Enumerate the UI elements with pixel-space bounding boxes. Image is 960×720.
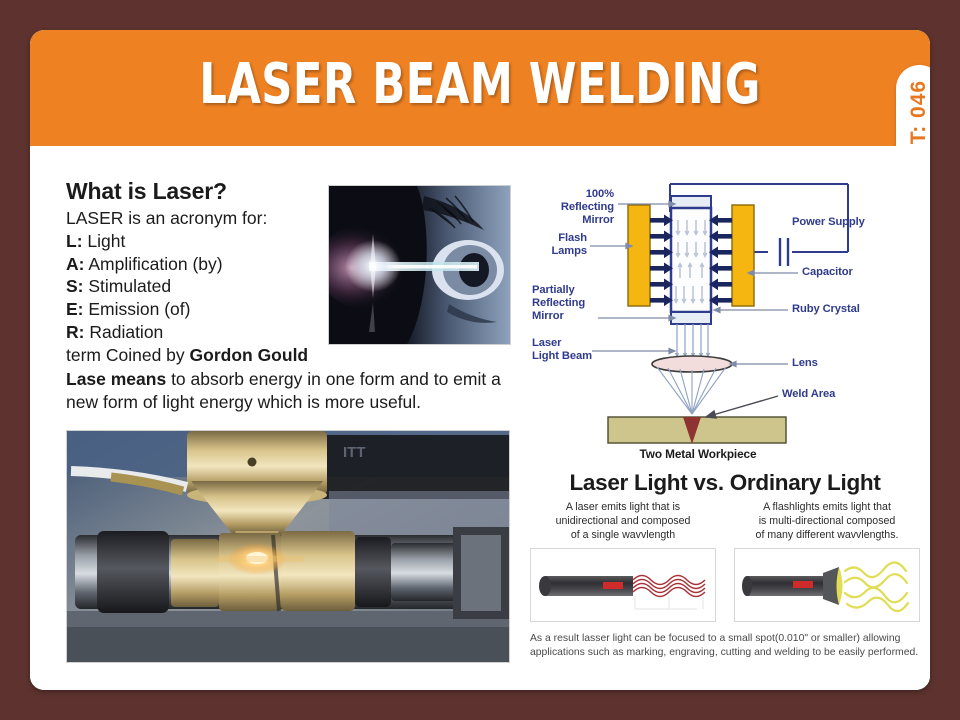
acronym-letter-a: A: <box>66 254 84 274</box>
acronym-letter-r: R: <box>66 322 84 342</box>
left-column: What is Laser? LASER is an acronym for: … <box>66 178 518 414</box>
flashlight-caption-line1: A flashlights emits light that <box>763 501 891 513</box>
laser-caption-line3: of a single wavvlength <box>571 529 675 541</box>
weld-photo-graphic: ITT <box>67 431 509 662</box>
label-100-reflecting-mirror: 100% Reflecting Mirror <box>532 188 614 228</box>
label-laser-light-beam: Laser Light Beam <box>532 337 602 363</box>
comparison-footnote: As a result lasser light can be focused … <box>530 632 920 660</box>
footnote-line1: As a result lasser light can be focused … <box>530 633 900 644</box>
acronym-word-a: Amplification (by) <box>88 254 222 274</box>
laser-caption: A laser emits light that is unidirection… <box>530 501 716 542</box>
label-partial-line1: Partially <box>532 284 575 296</box>
label-lens: Lens <box>792 357 818 370</box>
acronym-letter-e: E: <box>66 299 84 319</box>
label-partial-line2: Reflecting <box>532 297 585 309</box>
label-partially-reflecting-mirror: Partially Reflecting Mirror <box>532 284 598 324</box>
laser-caption-line2: unidirectional and composed <box>556 515 691 527</box>
acronym-word-s: Stimulated <box>88 276 171 296</box>
coined-by-line: term Coined by Gordon Gould <box>66 344 518 367</box>
acronym-letter-s: S: <box>66 276 84 296</box>
label-mirror100-line1: 100% <box>586 188 614 200</box>
flashlight-illustration <box>734 548 920 622</box>
svg-text:ITT: ITT <box>343 444 366 461</box>
eye-photo-graphic <box>329 186 510 344</box>
flashlight-caption-line3: of many different wavvlengths. <box>756 529 899 541</box>
footnote-line2: applications such as marking, engraving,… <box>530 647 918 658</box>
lase-definition-bold: Lase means <box>66 369 166 389</box>
slide-header: LASER BEAM WELDING <box>30 30 930 146</box>
label-mirror100-line2: Reflecting <box>561 201 614 213</box>
laser-pointer-graphic <box>531 549 715 621</box>
label-mirror100-line3: Mirror <box>582 214 614 226</box>
flashlight-caption-line2: is multi-directional composed <box>759 515 896 527</box>
flashlight-graphic <box>735 549 919 621</box>
page-title: LASER BEAM WELDING <box>93 52 867 117</box>
slide-body: What is Laser? LASER is an acronym for: … <box>30 146 930 690</box>
comparison-heading: Laser Light vs. Ordinary Light <box>530 470 920 496</box>
label-capacitor: Capacitor <box>802 266 853 279</box>
right-column: 100% Reflecting Mirror Flash Lamps Parti… <box>530 174 920 660</box>
acronym-word-e: Emission (of) <box>88 299 190 319</box>
eye-with-laser-beam-photo <box>328 185 511 345</box>
laser-caption-line1: A laser emits light that is <box>566 501 680 513</box>
comparison-section: Laser Light vs. Ordinary Light A laser e… <box>530 470 920 660</box>
coined-by-prefix: term Coined by <box>66 345 190 365</box>
flashlight-caption: A flashlights emits light that is multi-… <box>734 501 920 542</box>
label-ruby-crystal: Ruby Crystal <box>792 303 860 316</box>
label-beam-line2: Light Beam <box>532 350 592 362</box>
laser-pointer-illustration <box>530 548 716 622</box>
slide-root: LASER BEAM WELDING FT: 046 <box>0 0 960 720</box>
acronym-letter-l: L: <box>66 231 83 251</box>
label-flash-lamps: Flash Lamps <box>532 232 587 258</box>
label-weld-area: Weld Area <box>782 388 835 401</box>
lase-definition: Lase means to absorb energy in one form … <box>66 368 518 414</box>
acronym-word-l: Light <box>87 231 125 251</box>
laser-apparatus-diagram: 100% Reflecting Mirror Flash Lamps Parti… <box>530 174 920 464</box>
label-beam-line1: Laser <box>532 337 561 349</box>
label-two-metal-workpiece: Two Metal Workpiece <box>610 448 786 462</box>
comparison-columns: A laser emits light that is unidirection… <box>530 501 920 622</box>
slide-card: LASER BEAM WELDING FT: 046 <box>30 30 930 690</box>
coined-by-name: Gordon Gould <box>190 345 309 365</box>
label-partial-line3: Mirror <box>532 310 564 322</box>
acronym-word-r: Radiation <box>89 322 163 342</box>
label-flash-line1: Flash <box>558 232 587 244</box>
comparison-column-flashlight: A flashlights emits light that is multi-… <box>734 501 920 622</box>
laser-welding-machine-photo: ITT <box>66 430 510 663</box>
label-power-supply: Power Supply <box>792 216 865 229</box>
comparison-column-laser: A laser emits light that is unidirection… <box>530 501 716 622</box>
label-flash-line2: Lamps <box>551 245 587 257</box>
